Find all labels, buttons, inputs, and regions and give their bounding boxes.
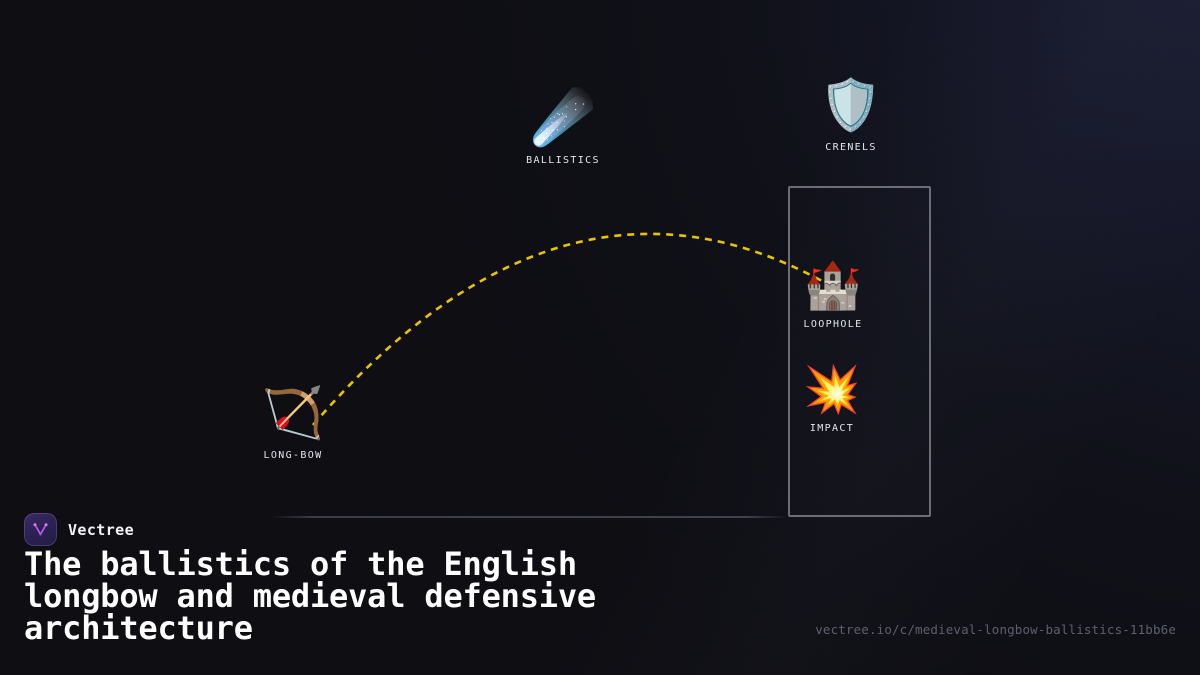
node-label-long-bow: LONG-BOW: [264, 450, 323, 461]
castle-icon: 🏰: [804, 262, 861, 308]
bow-and-arrow-icon: 🏹: [262, 388, 324, 438]
node-crenels[interactable]: 🛡️ CRENELS: [771, 80, 931, 153]
node-label-crenels: CRENELS: [825, 142, 877, 153]
node-impact[interactable]: 💥 IMPACT: [752, 366, 912, 434]
brand-lockup[interactable]: Vectree: [24, 513, 134, 546]
node-loophole[interactable]: 🏰 LOOPHOLE: [753, 262, 913, 330]
node-label-loophole: LOOPHOLE: [804, 319, 863, 330]
permalink-url: vectree.io/c/medieval-longbow-ballistics…: [815, 622, 1176, 637]
card-footer: Vectree The ballistics of the English lo…: [0, 500, 1200, 675]
shield-icon: 🛡️: [820, 80, 882, 130]
comet-icon: ☄️: [531, 92, 596, 144]
page-title: The ballistics of the English longbow an…: [24, 548, 724, 644]
vectree-logo-glyph: [31, 520, 50, 539]
vectree-branch-v-icon: [24, 513, 57, 546]
node-long-bow[interactable]: 🏹 LONG-BOW: [213, 388, 373, 461]
vectree-share-card: ☄️ BALLISTICS 🛡️ CRENELS 🏹 LONG-BOW 🏰 LO…: [0, 0, 1200, 675]
collision-icon: 💥: [803, 366, 860, 412]
node-label-ballistics: BALLISTICS: [526, 155, 600, 166]
projectile-trajectory-path: [313, 234, 822, 425]
brand-name: Vectree: [68, 521, 134, 539]
node-label-impact: IMPACT: [810, 423, 854, 434]
target-group-frame[interactable]: [788, 186, 931, 517]
node-ballistics[interactable]: ☄️ BALLISTICS: [483, 92, 643, 166]
